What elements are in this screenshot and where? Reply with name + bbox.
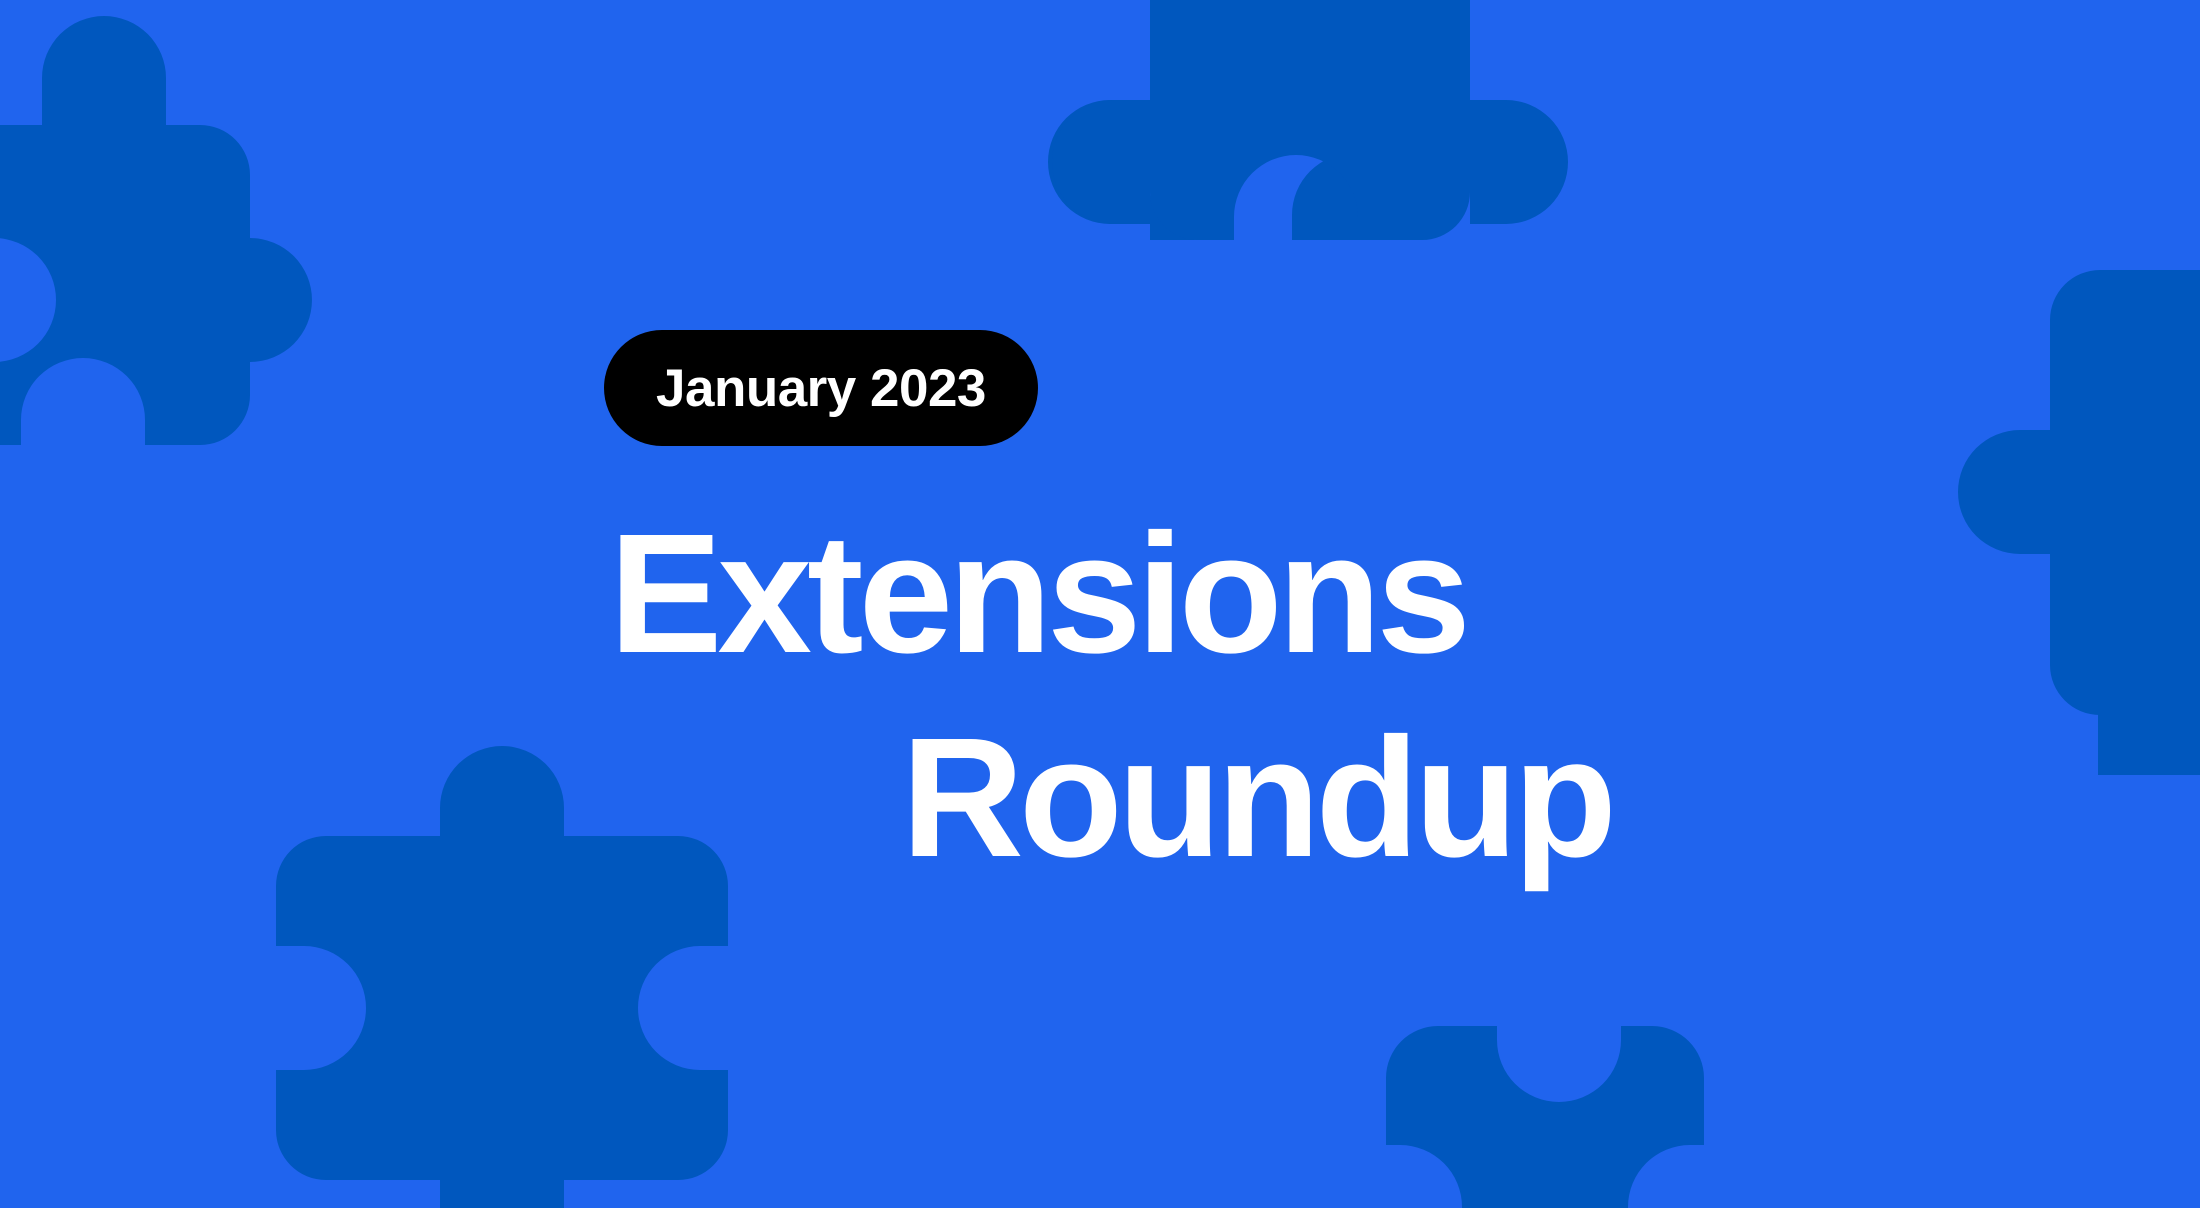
page-title-line-1: Extensions <box>0 492 1466 696</box>
date-badge: January 2023 <box>604 330 1038 446</box>
page-title: Extensions Roundup <box>0 492 1612 900</box>
extensions-roundup-banner: January 2023 Extensions Roundup <box>0 0 2200 1208</box>
date-badge-label: January 2023 <box>656 362 986 415</box>
page-title-line-2: Roundup <box>0 696 1612 900</box>
banner-content: January 2023 Extensions Roundup <box>0 0 2200 1208</box>
